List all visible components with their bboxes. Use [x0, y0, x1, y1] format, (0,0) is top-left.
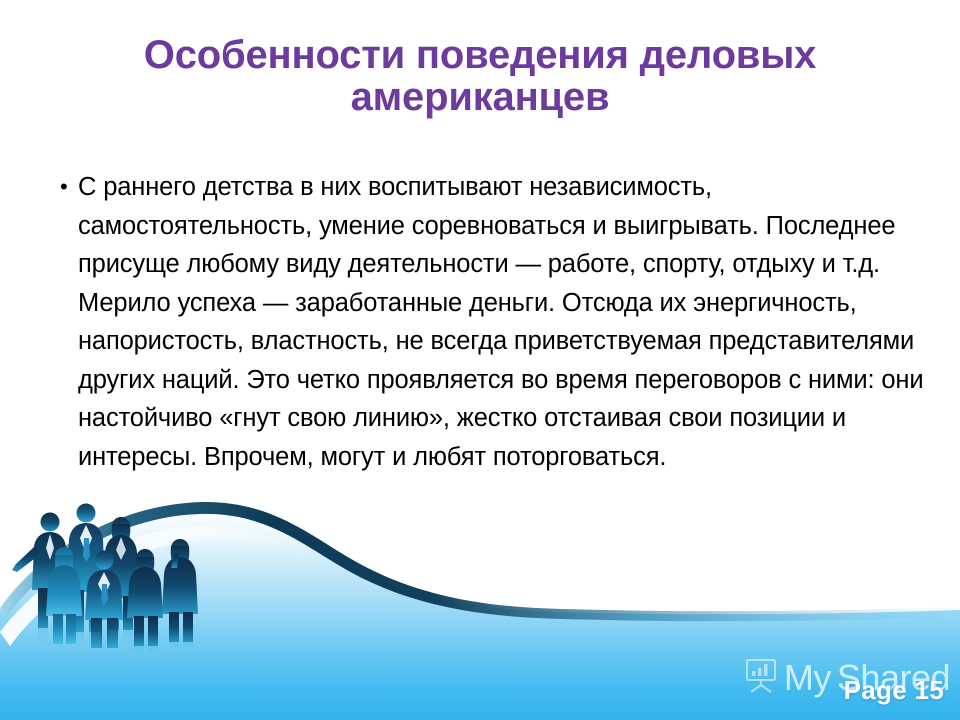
slide-canvas: Особенности поведения деловых американце…: [0, 0, 960, 720]
presentation-chart-icon: [744, 658, 778, 699]
page-title: Особенности поведения деловых американце…: [60, 34, 900, 119]
body-content: • С раннего детства в них воспитывают не…: [48, 168, 928, 476]
people-group-icon: [8, 498, 308, 658]
bullet-marker-icon: •: [48, 168, 78, 206]
title-line-1: Особенности поведения деловых: [60, 34, 900, 76]
watermark-word-my: My: [784, 660, 831, 696]
bullet-list-item: • С раннего детства в них воспитывают не…: [48, 168, 928, 476]
title-line-2: американцев: [60, 76, 900, 118]
bullet-item-text: С раннего детства в них воспитывают неза…: [78, 168, 928, 476]
business-people-silhouette: [8, 498, 308, 658]
person-figure: [162, 539, 198, 642]
page-number-label: Page 15: [844, 675, 944, 706]
